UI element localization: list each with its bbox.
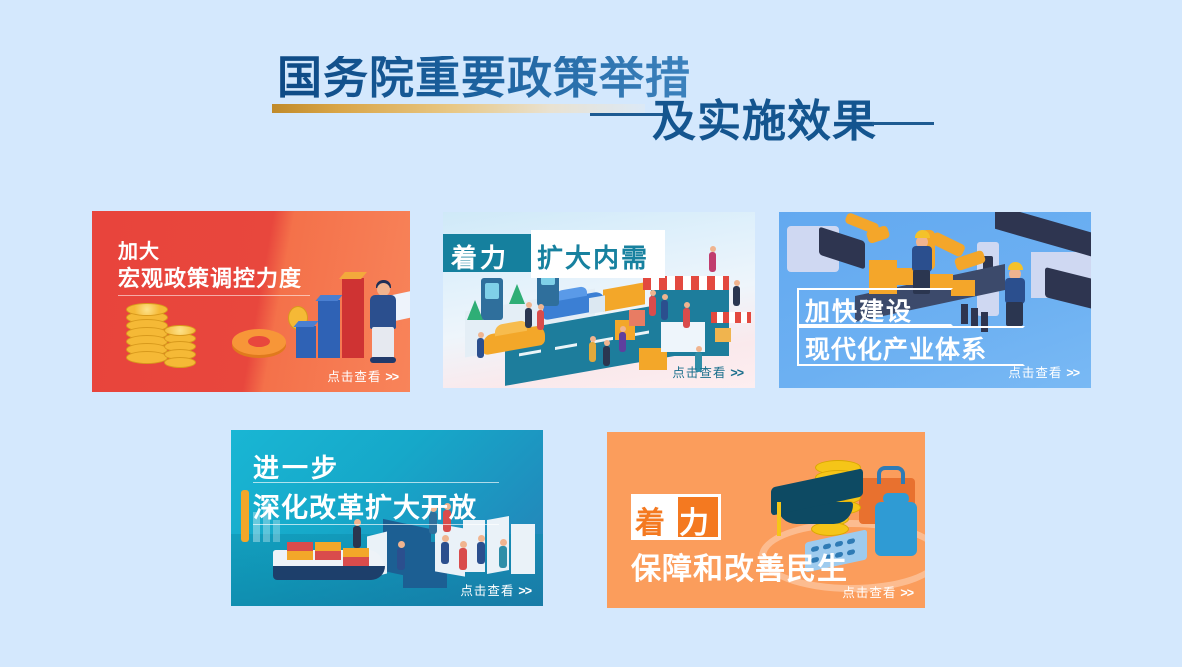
card1-cta[interactable]: 点击查看>>	[327, 366, 398, 385]
card4-title-rule-top	[253, 482, 499, 483]
page-title-line1: 国务院重要政策举措	[277, 56, 691, 101]
card2-cta-arrows-icon: >>	[730, 366, 743, 380]
card1-cta-label: 点击查看	[327, 370, 381, 384]
card5-title-line2: 保障和改善民生	[631, 544, 848, 588]
card5-cta[interactable]: 点击查看>>	[842, 582, 913, 601]
card-modern-industry[interactable]: 加快建设 现代化产业体系 点击查看>>	[779, 212, 1091, 388]
card3-title-line1: 加快建设	[805, 292, 913, 328]
card3-title-line2: 现代化产业体系	[805, 330, 987, 366]
title-blue-divider-right	[872, 122, 934, 125]
card1-title-line2: 宏观政策调控力度	[118, 261, 302, 293]
card5-title-char-a: 着	[635, 498, 665, 542]
card-livelihood[interactable]: 着 力 保障和改善民生 点击查看>>	[607, 432, 925, 608]
card4-title-rule-bottom	[253, 524, 499, 525]
card1-title-rule	[118, 295, 310, 296]
card3-cta[interactable]: 点击查看>>	[1008, 362, 1079, 381]
card4-cta-arrows-icon: >>	[518, 584, 531, 598]
card2-cta[interactable]: 点击查看>>	[672, 362, 743, 381]
card4-title-line2: 深化改革扩大开放	[253, 486, 477, 525]
card1-title-line1: 加大	[118, 235, 160, 264]
card3-cta-arrows-icon: >>	[1066, 366, 1079, 380]
card2-title-line2: 扩大内需	[537, 238, 649, 275]
card4-cta-label: 点击查看	[460, 584, 514, 598]
donut-chart-illustration	[232, 329, 286, 355]
card5-cta-arrows-icon: >>	[900, 586, 913, 600]
card-domestic-demand[interactable]: 着力 扩大内需 点击查看>>	[443, 212, 755, 388]
card2-cta-label: 点击查看	[672, 366, 726, 380]
card4-title-line1: 进一步	[253, 448, 340, 485]
page-title-line2: 及实施效果	[652, 100, 877, 144]
card-macro-policy[interactable]: 加大 宏观政策调控力度 点击查看>>	[92, 211, 410, 392]
page-header: 国务院重要政策举措 及实施效果	[0, 0, 1182, 180]
card3-cta-label: 点击查看	[1008, 366, 1062, 380]
card4-cta[interactable]: 点击查看>>	[460, 580, 531, 599]
card1-cta-arrows-icon: >>	[385, 370, 398, 384]
card-reform-opening[interactable]: 进一步 深化改革扩大开放 点击查看>>	[231, 430, 543, 606]
card5-cta-label: 点击查看	[842, 586, 896, 600]
title-gold-underline	[272, 104, 645, 113]
card2-title-line1: 着力	[451, 238, 509, 275]
card5-title-char-b: 力	[679, 498, 709, 542]
